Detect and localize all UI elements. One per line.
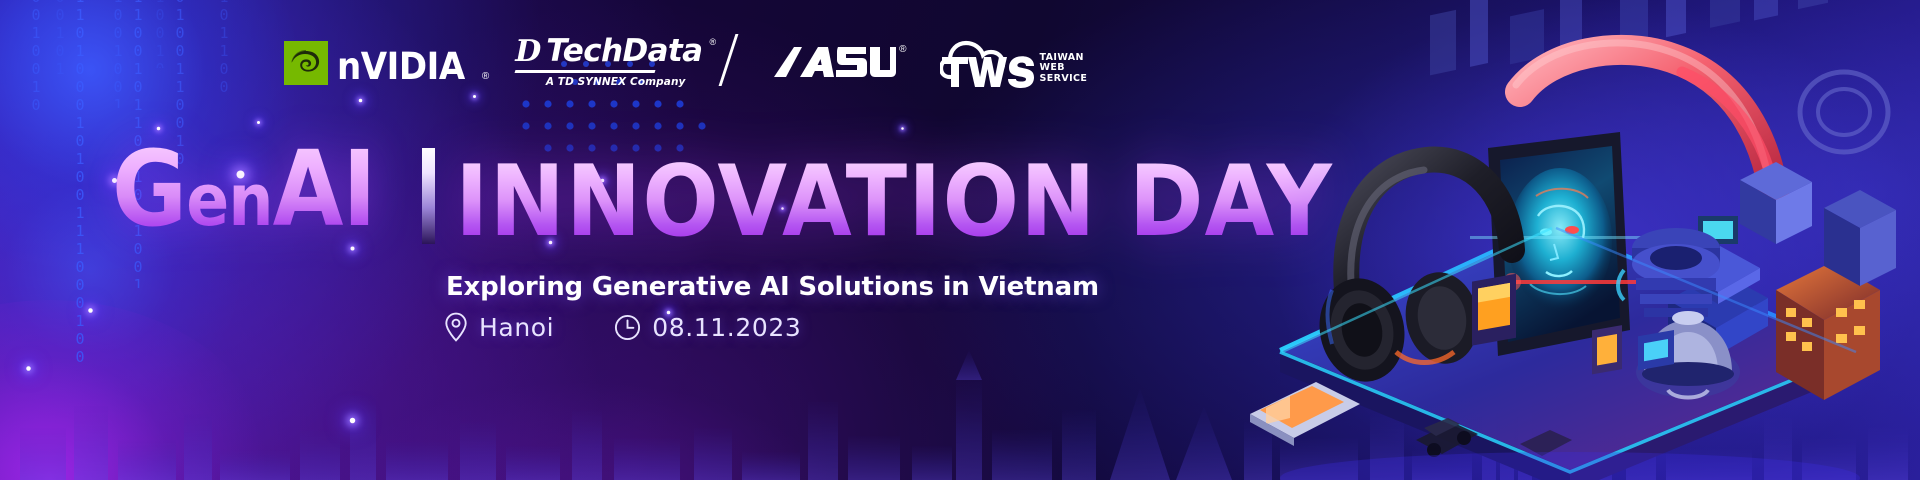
glow-bottom-center: [300, 380, 860, 480]
sparkle-dot: [350, 418, 356, 424]
asus-registered-mark: ®: [899, 45, 906, 55]
logo-asus[interactable]: ®: [772, 43, 906, 83]
subtitle: Exploring Generative AI Solutions in Vie…: [446, 272, 1099, 302]
isometric-ai-city-scene: [1220, 0, 1920, 480]
meta-location: Hanoi: [444, 312, 554, 342]
logo-techdata[interactable]: D TechData ® A TD SYNNEX Company: [515, 36, 716, 90]
genai-cap-g: G: [112, 128, 186, 250]
binary-column: 1011001001: [216, 0, 231, 98]
glow-bottom-left: [0, 300, 280, 480]
sparkle-dot: [473, 95, 476, 98]
techdata-registered-mark: ®: [709, 38, 716, 47]
sparkle-dot: [359, 99, 363, 103]
page-title: INNOVATION DAY: [455, 158, 1333, 246]
partner-logo-row: nVIDIA ® D TechData ® A TD SYNNEX Compan…: [284, 34, 1087, 92]
sparkle-dot: [257, 121, 260, 124]
sparkle-dot: [88, 308, 93, 313]
logo-nvidia[interactable]: nVIDIA ®: [284, 41, 489, 85]
nvidia-registered-mark: ®: [482, 72, 489, 82]
genai-brand-text: GenAI: [112, 143, 376, 246]
binary-column: 0010110010011: [52, 0, 67, 78]
binary-column: 1001011001: [152, 0, 167, 68]
nvidia-eye-icon: [284, 41, 328, 85]
headline-block: GenAI INNOVATION DAY: [112, 140, 1409, 246]
genai-innovation-day-banner: 0010010110100010100111000100110001010010…: [0, 0, 1920, 480]
genai-small-en: en: [186, 158, 272, 242]
tws-subtext-line-3: SERVICE: [1039, 74, 1087, 85]
sparkle-dot: [26, 366, 31, 371]
techdata-wordmark: TechData: [546, 36, 702, 67]
meta-date: 08.11.2023: [614, 314, 801, 341]
techdata-slash-accent: [719, 34, 739, 86]
asus-wordmark: [772, 43, 896, 83]
event-meta: Hanoi 08.11.2023: [444, 312, 801, 342]
binary-column: 1101000101001110001001100010: [72, 0, 87, 368]
binary-column: 1001001011100010: [110, 0, 125, 108]
binary-column: 0010010: [28, 0, 43, 138]
techdata-monogram: D: [515, 37, 540, 67]
logo-tws[interactable]: TAIWAN WEB SERVICE: [940, 37, 1087, 89]
nvidia-wordmark: nVIDIA: [337, 49, 465, 85]
location-pin-icon: [444, 312, 468, 342]
tws-wordmark: [942, 55, 1034, 89]
clock-icon: [614, 314, 641, 341]
location-text: Hanoi: [479, 314, 554, 341]
tws-subtext-line-2: WEB: [1039, 63, 1087, 74]
date-text: 08.11.2023: [652, 314, 801, 341]
techdata-tagline: A TD SYNNEX Company: [515, 77, 716, 88]
tws-subtext: TAIWAN WEB SERVICE: [1039, 53, 1087, 85]
genai-cap-ai: AI: [273, 128, 376, 250]
headline-divider: [422, 148, 435, 244]
sparkle-dot: [901, 127, 904, 130]
techdata-underline: [515, 70, 656, 73]
